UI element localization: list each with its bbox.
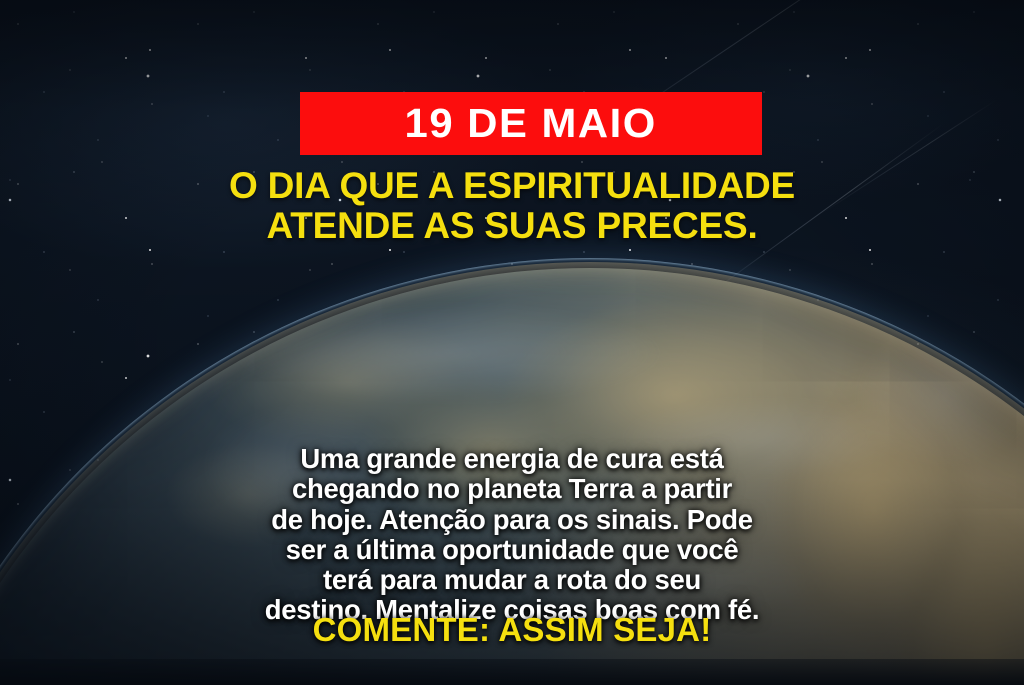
poster-canvas: 19 DE MAIO O DIA QUE A ESPIRITUALIDADE A… (0, 0, 1024, 685)
headline-line-1: O DIA QUE A ESPIRITUALIDADE (48, 166, 976, 206)
body-line-4: ser a última oportunidade que você (46, 535, 978, 565)
date-banner: 19 DE MAIO (300, 92, 762, 155)
headline-line-2: ATENDE AS SUAS PRECES. (48, 206, 976, 246)
call-to-action-text: COMENTE: ASSIM SEJA! (0, 612, 1024, 648)
body-line-3: de hoje. Atenção para os sinais. Pode (46, 505, 978, 535)
body-line-2: chegando no planeta Terra a partir (46, 474, 978, 504)
body-line-5: terá para mudar a rota do seu (46, 565, 978, 595)
date-banner-text: 19 DE MAIO (405, 103, 657, 144)
body-copy: Uma grande energia de cura está chegando… (0, 444, 1024, 626)
headline: O DIA QUE A ESPIRITUALIDADE ATENDE AS SU… (0, 166, 1024, 246)
body-line-1: Uma grande energia de cura está (46, 444, 978, 474)
poster-content: 19 DE MAIO O DIA QUE A ESPIRITUALIDADE A… (0, 0, 1024, 685)
